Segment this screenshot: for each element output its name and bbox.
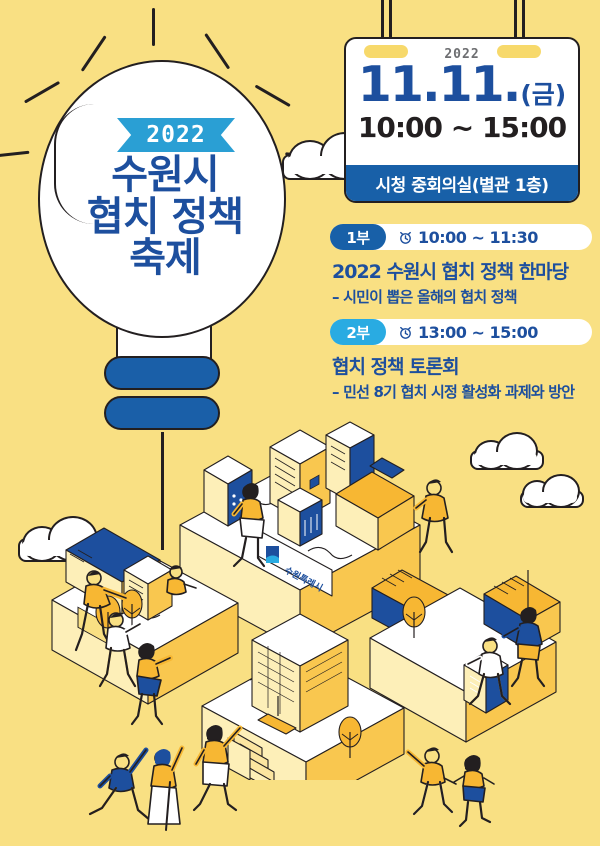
poster-title-line-1: 수원시 [40,155,290,197]
building-blue-block [204,456,252,526]
kiosk-right [464,652,508,713]
program-time-label-2: 13:00 ~ 15:00 [418,323,538,342]
program-title-2: 협치 정책 토론회 [332,352,592,379]
year-ribbon: 2022 [117,118,235,152]
program-row: 1부 10:00 ~ 11:30 [330,224,592,250]
ray-icon [0,151,29,157]
program-time-1: 10:00 ~ 11:30 [398,228,538,247]
bulb-base-band [104,356,220,390]
program-schedule: 1부 10:00 ~ 11:30 2022 수원시 협치 정책 한마당 – 시민… [330,224,592,414]
event-date-card: 2022 11.11. (금) 10:00 ~ 15:00 시청 중회의실(별관… [344,37,580,203]
program-badge-1: 1부 [330,224,386,250]
ray-icon [152,8,155,46]
poster-title: 수원시 협치 정책 축제 [40,155,290,280]
calendar-clip [497,45,541,58]
program-time-label-1: 10:00 ~ 11:30 [418,228,538,247]
calendar-venue: 시청 중회의실(별관 1층) [346,165,578,201]
calendar-date-row: 11.11. (금) [346,60,578,109]
calendar-time: 10:00 ~ 15:00 [346,111,578,144]
calendar-clip [364,45,408,58]
program-desc-1: – 시민이 뽑은 올해의 협치 정책 [332,286,592,307]
calendar-day-of-week: (금) [520,82,566,107]
isometric-city-illustration: .ln{stroke:#231F20;stroke-width:1.1;fill… [0,400,600,780]
poster-title-line-3: 축제 [40,238,290,280]
poster-root: 2022 수원시 협치 정책 축제 2022 11.11. (금) 10:00 … [0,0,600,846]
year-ribbon-label: 2022 [146,122,205,148]
poster-title-line-2: 협치 정책 [40,197,290,239]
building-navy-small [278,488,322,546]
alarm-clock-icon [398,230,413,245]
program-time-2: 13:00 ~ 15:00 [398,323,538,342]
program-title-1: 2022 수원시 협치 정책 한마당 [332,257,592,284]
calendar-day: 11.11. [358,60,520,109]
program-badge-2: 2부 [330,319,386,345]
program-desc-2: – 민선 8기 협치 시정 활성화 과제와 방안 [332,381,592,402]
program-row: 2부 13:00 ~ 15:00 [330,319,592,345]
alarm-clock-icon [398,325,413,340]
